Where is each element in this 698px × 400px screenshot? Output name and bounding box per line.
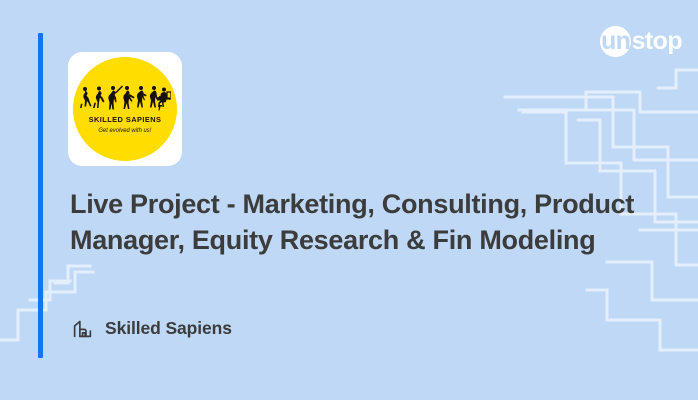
unstop-logo[interactable]: un stop <box>600 26 682 56</box>
organiser-row[interactable]: Skilled Sapiens <box>72 318 232 339</box>
organiser-name: Skilled Sapiens <box>105 318 232 339</box>
event-banner: un stop <box>0 0 698 400</box>
page-title: Live Project - Marketing, Consulting, Pr… <box>70 186 650 258</box>
organisation-logo-tagline: Get evolved with us! <box>99 127 152 134</box>
organisation-logo-circle: SKILLED SAPIENS Get evolved with us! <box>73 57 177 161</box>
unstop-logo-stop-text: stop <box>632 26 682 56</box>
accent-bar <box>38 33 43 358</box>
human-evolution-icon <box>79 79 171 113</box>
unstop-wordmark: un stop <box>600 26 682 56</box>
organisation-logo-card[interactable]: SKILLED SAPIENS Get evolved with us! <box>68 52 182 166</box>
organisation-logo-name: SKILLED SAPIENS <box>89 115 162 124</box>
unstop-logo-un-text: un <box>601 26 630 56</box>
unstop-logo-circle-group: un <box>600 26 633 56</box>
company-building-icon <box>72 318 93 339</box>
